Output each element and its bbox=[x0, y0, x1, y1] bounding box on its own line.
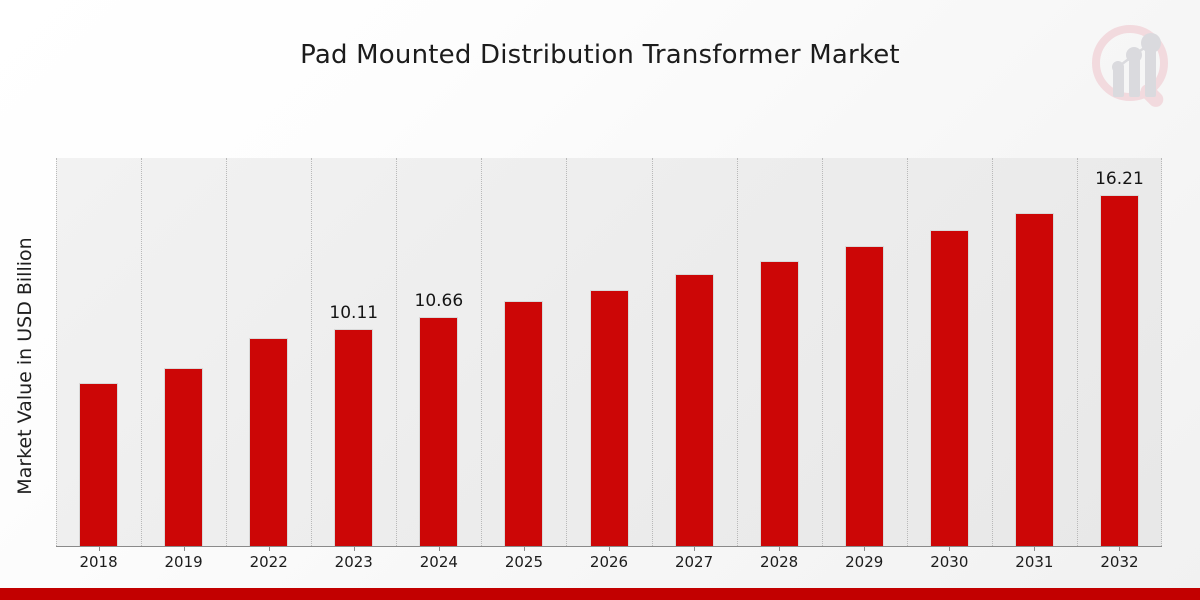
plot-area bbox=[56, 158, 1162, 546]
x-tick-label-2028: 2028 bbox=[760, 553, 798, 571]
bar-2025[interactable] bbox=[504, 301, 543, 546]
x-tick-label-2023: 2023 bbox=[335, 553, 373, 571]
x-tick-label-2032: 2032 bbox=[1100, 553, 1138, 571]
bar-2026[interactable] bbox=[590, 290, 629, 546]
bar-2032[interactable] bbox=[1100, 195, 1139, 546]
x-tick-label-2025: 2025 bbox=[505, 553, 543, 571]
x-tick bbox=[269, 546, 270, 551]
bar-2019[interactable] bbox=[164, 368, 203, 546]
x-tick-label-2024: 2024 bbox=[420, 553, 458, 571]
y-axis-label: Market Value in USD Billion bbox=[14, 166, 36, 566]
bar-2029[interactable] bbox=[845, 246, 884, 546]
x-tick bbox=[779, 546, 780, 551]
chart-figure: Pad Mounted Distribution Transformer Mar… bbox=[0, 0, 1200, 600]
x-tick bbox=[524, 546, 525, 551]
bar-value-label: 16.21 bbox=[1095, 169, 1144, 189]
bars-layer bbox=[56, 158, 1162, 546]
bar-value-label: 10.11 bbox=[329, 303, 378, 323]
x-tick-label-2031: 2031 bbox=[1015, 553, 1053, 571]
x-tick bbox=[99, 546, 100, 551]
x-tick bbox=[354, 546, 355, 551]
x-tick bbox=[439, 546, 440, 551]
x-tick bbox=[694, 546, 695, 551]
bar-2031[interactable] bbox=[1015, 213, 1054, 546]
x-tick bbox=[1034, 546, 1035, 551]
footer-band bbox=[0, 588, 1200, 600]
x-tick-label-2030: 2030 bbox=[930, 553, 968, 571]
x-tick bbox=[184, 546, 185, 551]
x-tick bbox=[949, 546, 950, 551]
x-tick-label-2019: 2019 bbox=[165, 553, 203, 571]
page-title: Pad Mounted Distribution Transformer Mar… bbox=[0, 40, 1200, 70]
x-tick-label-2018: 2018 bbox=[79, 553, 117, 571]
bar-value-label: 10.66 bbox=[415, 291, 464, 311]
bar-2018[interactable] bbox=[79, 383, 118, 546]
x-tick-label-2022: 2022 bbox=[250, 553, 288, 571]
x-tick bbox=[1119, 546, 1120, 551]
bar-2022[interactable] bbox=[249, 338, 288, 546]
bar-2027[interactable] bbox=[675, 274, 714, 546]
x-tick-label-2029: 2029 bbox=[845, 553, 883, 571]
bar-2024[interactable] bbox=[419, 317, 458, 546]
x-tick bbox=[609, 546, 610, 551]
x-tick bbox=[864, 546, 865, 551]
x-tick-label-2027: 2027 bbox=[675, 553, 713, 571]
x-tick-label-2026: 2026 bbox=[590, 553, 628, 571]
bar-2028[interactable] bbox=[760, 261, 799, 546]
bar-2030[interactable] bbox=[930, 230, 969, 546]
bar-2023[interactable] bbox=[334, 329, 373, 546]
